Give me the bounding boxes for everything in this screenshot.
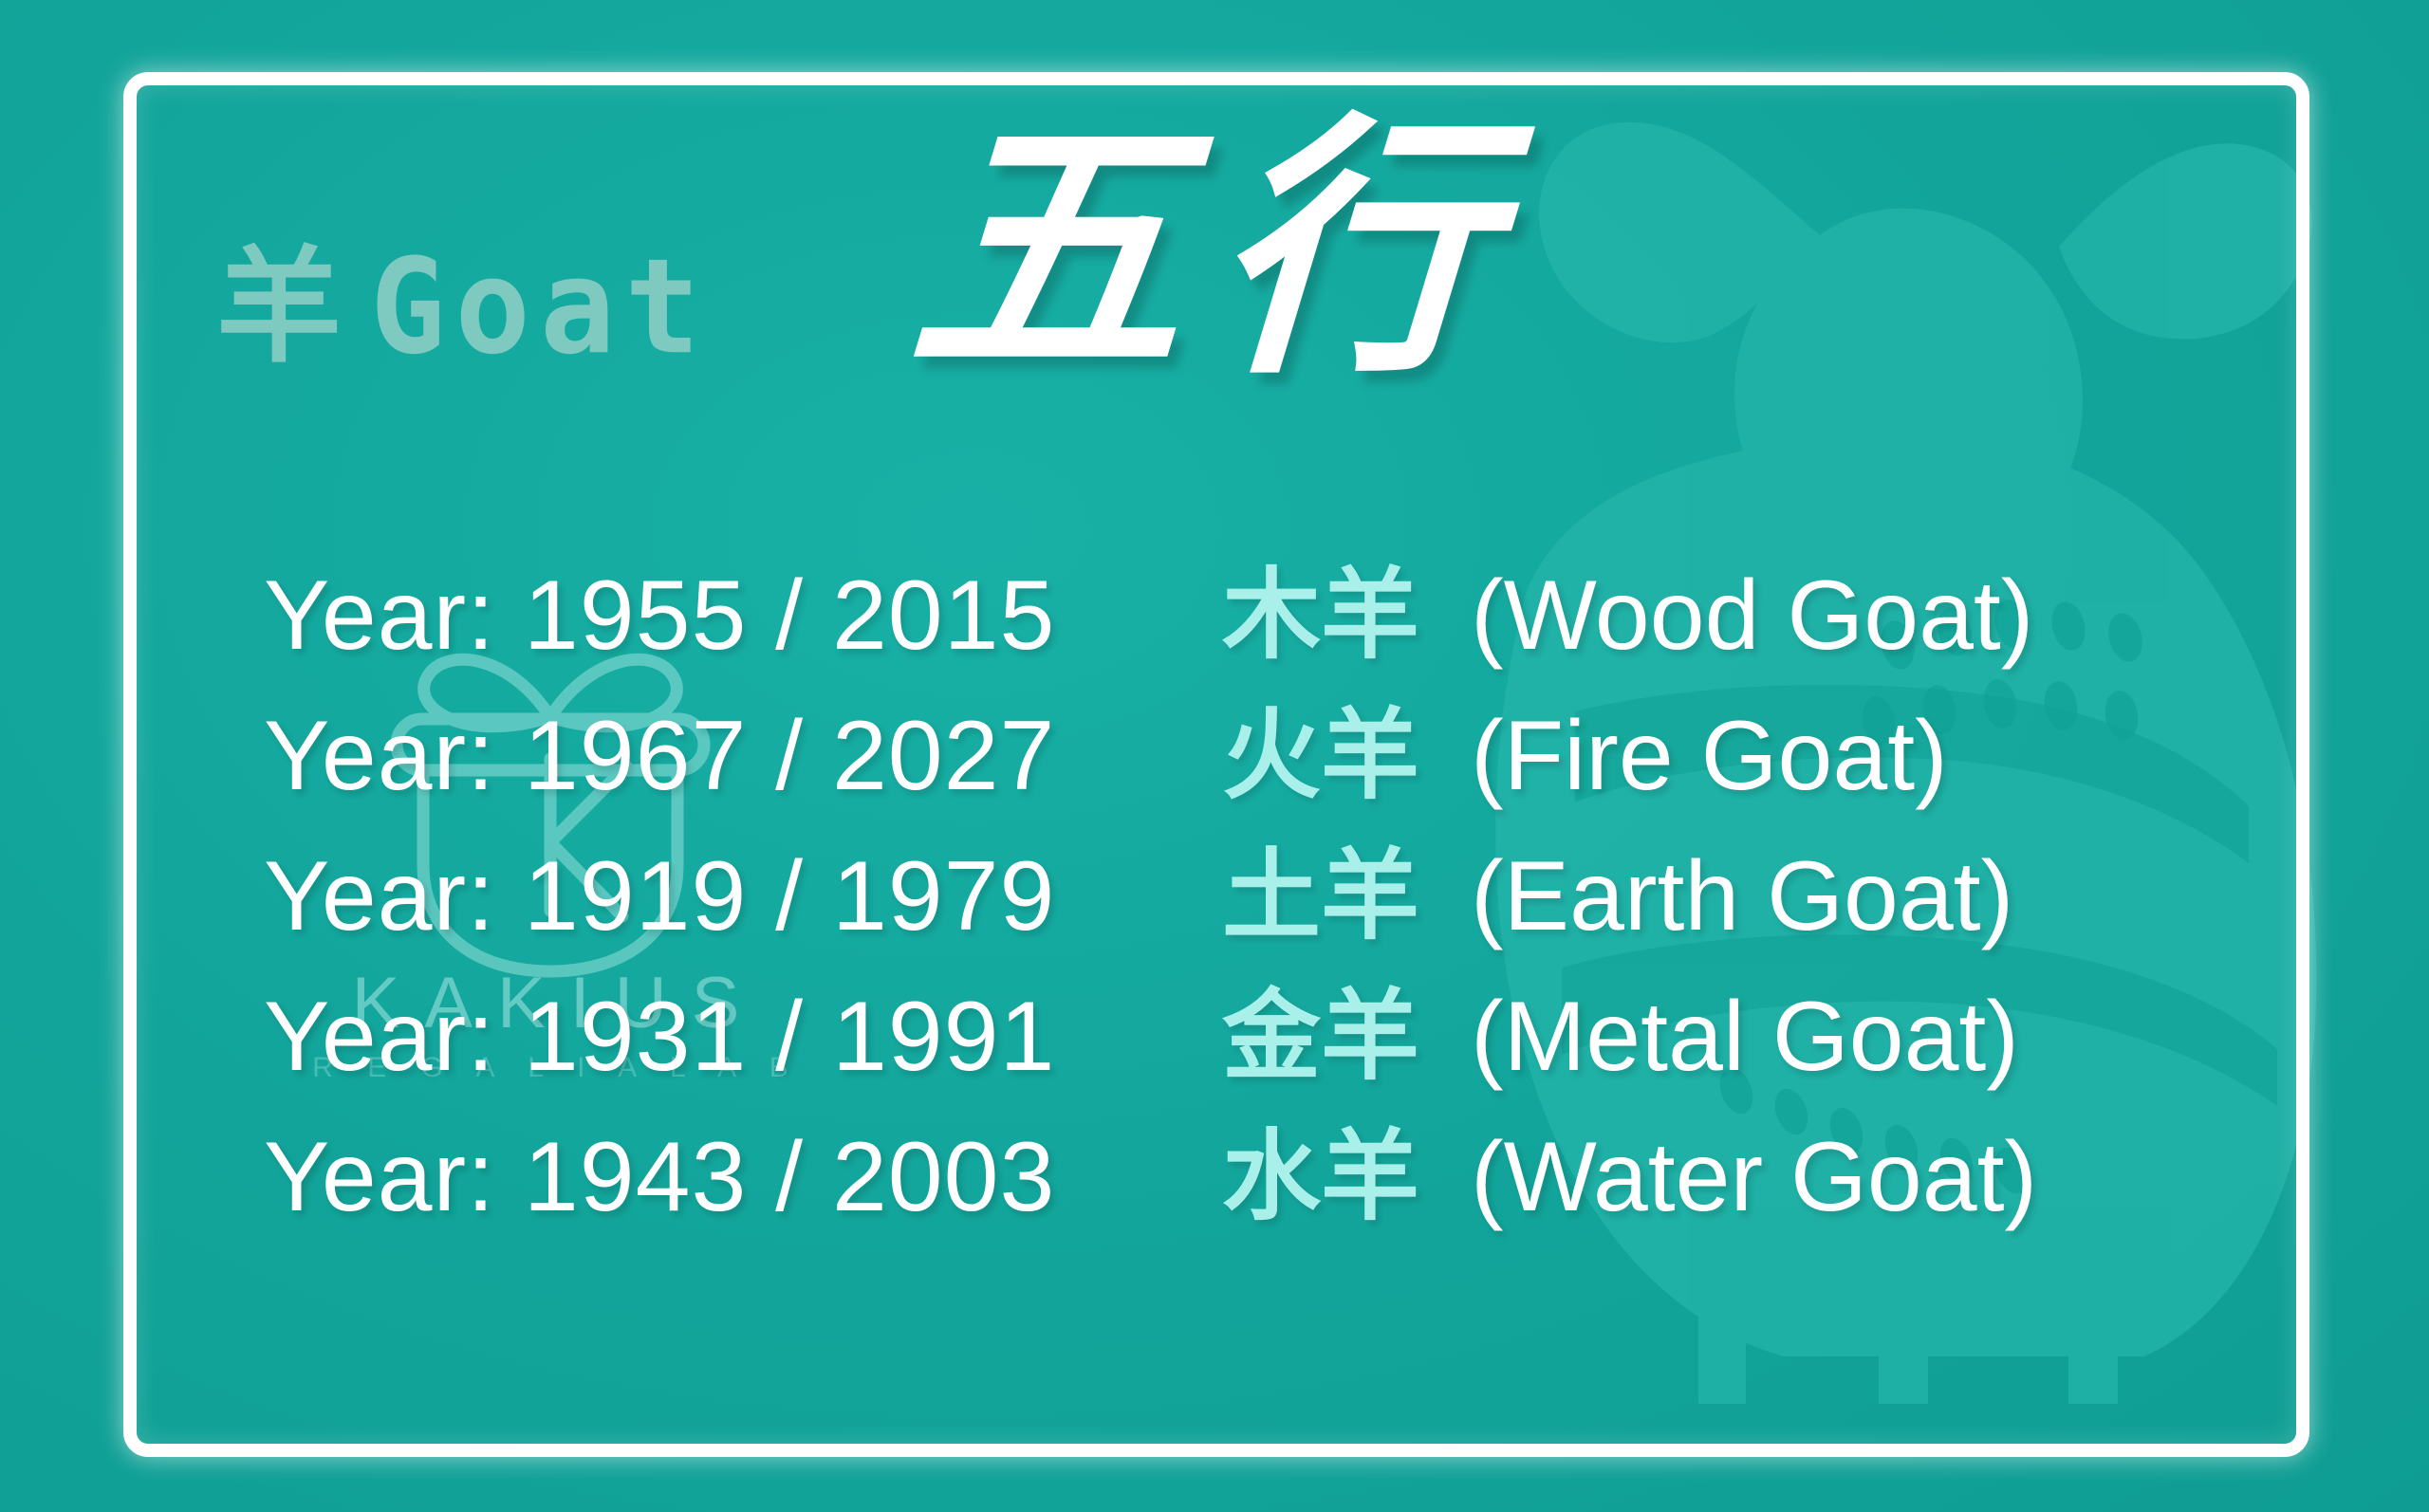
row-english-label: (Wood Goat) [1471,566,2033,665]
row-year-label: Year: 1919 / 1979 [264,847,1222,946]
row-year-label: Year: 1943 / 2003 [264,1128,1222,1226]
list-item: Year: 1967 / 2027 火羊 (Fire Goat) [264,706,2218,846]
row-cjk-label: 土羊 [1222,846,1471,945]
poster-header: 羊 Goat 五行 [0,0,2429,512]
row-english-label: (Water Goat) [1471,1128,2037,1226]
goat-cjk-glyph: 羊 [216,245,342,370]
row-cjk-label: 火羊 [1222,706,1471,804]
row-english-label: (Fire Goat) [1471,707,1948,805]
row-cjk-label: 木羊 [1222,565,1471,664]
row-english-label: (Earth Goat) [1471,847,2013,946]
goat-sign-label: 羊 Goat [216,245,710,370]
poster-canvas: KAKIUS R E G A L I A L A B 羊 Goat 五行 Yea… [0,0,2429,1512]
five-elements-brush-title: 五行 [903,114,1525,389]
row-year-label: Year: 1931 / 1991 [264,987,1222,1086]
list-item: Year: 1931 / 1991 金羊 (Metal Goat) [264,986,2218,1127]
list-item: Year: 1919 / 1979 土羊 (Earth Goat) [264,846,2218,986]
list-item: Year: 1943 / 2003 水羊 (Water Goat) [264,1127,2218,1267]
row-year-label: Year: 1967 / 2027 [264,707,1222,805]
element-rows-list: Year: 1955 / 2015 木羊 (Wood Goat) Year: 1… [264,565,2218,1267]
row-english-label: (Metal Goat) [1471,987,2019,1086]
row-cjk-label: 水羊 [1222,1127,1471,1226]
list-item: Year: 1955 / 2015 木羊 (Wood Goat) [264,565,2218,706]
goat-latin-label: Goat [370,242,710,374]
row-cjk-label: 金羊 [1222,986,1471,1085]
row-year-label: Year: 1955 / 2015 [264,566,1222,665]
